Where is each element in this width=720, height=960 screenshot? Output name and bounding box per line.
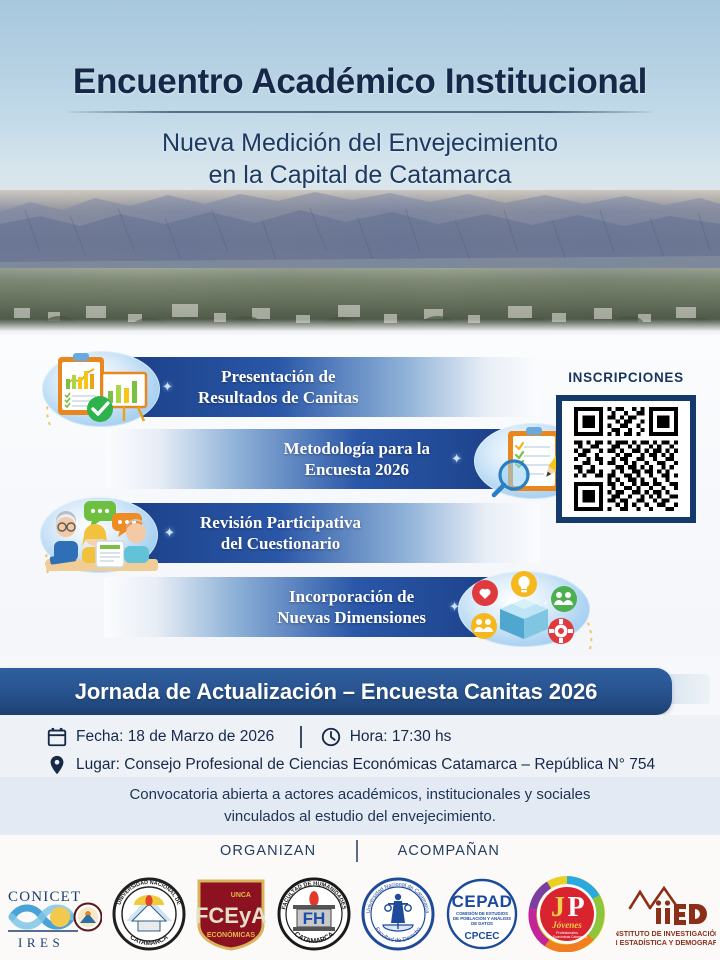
clock-icon — [320, 726, 342, 748]
event-banner-wrapper: Jornada de Actualización – Encuesta Cani… — [0, 668, 720, 715]
iied-instituto-investigacion-estadistica-demografia-logo: INSTITUTO DE INVESTIGACIÓN EN ESTADÍSTIC… — [616, 878, 716, 950]
acompanan-label: ACOMPAÑAN — [398, 843, 500, 859]
detail-row-place: Lugar: Consejo Profesional de Ciencias E… — [46, 752, 720, 777]
svg-text:UNCA: UNCA — [231, 892, 251, 899]
detail-row-date-time: Fecha: 18 de Marzo de 2026 Hora: 17:30 h… — [46, 724, 720, 749]
logo-strip: CONICET IRES — [0, 867, 720, 960]
svg-text:IRES: IRES — [18, 935, 64, 950]
topic-card-label: Incorporación de Nuevas Dimensiones — [277, 586, 426, 629]
unca-universidad-nacional-de-catamarca-logo: UNIVERSIDAD NACIONAL DE CATAMARCA — [112, 877, 186, 951]
svg-text:INSTITUTO DE INVESTIGACIÓN: INSTITUTO DE INVESTIGACIÓN — [616, 929, 716, 938]
facultad-de-humanidades-catamarca-logo: FH FACULTAD DE HUMANIDADES CATAMARCA — [277, 877, 351, 951]
qr-code-frame[interactable] — [556, 395, 696, 523]
topic-card-metodologia: ✦ Metodología para la Encuesta 2026 — [106, 429, 540, 489]
jovenes-profesionales-logo: J P Jóvenes Profesionales Cs. Económicas… — [528, 876, 606, 952]
event-banner-text: Jornada de Actualización – Encuesta Cani… — [75, 679, 598, 705]
title-divider — [68, 111, 652, 113]
hero-bottom-fade — [0, 319, 720, 335]
event-place: Lugar: Consejo Profesional de Ciencias E… — [76, 756, 655, 774]
poster-root: Encuentro Académico Institucional Nueva … — [0, 0, 720, 960]
subtitle-line-1: Nueva Medición del Envejecimiento — [0, 127, 720, 160]
credits-divider — [356, 840, 358, 862]
svg-text:EN ESTADÍSTICA Y DEMOGRAFÍA: EN ESTADÍSTICA Y DEMOGRAFÍA — [616, 938, 716, 947]
cepad-cpcec-logo: CEPAD COMISIÓN DE ESTUDIOS DE POBLACIÓN … — [445, 877, 519, 951]
convocatoria-line-2: vinculados al estudio del envejecimiento… — [224, 806, 496, 828]
hero-text-group: Encuentro Académico Institucional Nueva … — [0, 0, 720, 192]
sparkle-icon: ✦ — [451, 451, 462, 467]
clipboard-bar-chart-check-icon — [42, 351, 160, 427]
inscriptions-title: INSCRIPCIONES — [546, 370, 706, 385]
fceya-facultad-ciencias-economicas-logo: UNCA FCEyA ECONÓMICAS — [195, 877, 267, 951]
event-date: Fecha: 18 de Marzo de 2026 — [76, 728, 274, 746]
detail-divider — [300, 726, 302, 748]
svg-text:P: P — [568, 892, 585, 923]
hero-section: Encuentro Académico Institucional Nueva … — [0, 0, 720, 335]
convocatoria-line-1: Convocatoria abierta a actores académico… — [129, 784, 590, 806]
svg-text:CONICET: CONICET — [8, 889, 81, 905]
conicet-ires-logo: CONICET IRES — [4, 877, 102, 951]
convocatoria-block: Convocatoria abierta a actores académico… — [0, 777, 720, 835]
topic-card-label: Metodología para la Encuesta 2026 — [284, 438, 430, 481]
topic-card-label: Presentación de Resultados de Canitas — [198, 366, 359, 409]
facultad-de-derecho-unca-logo: Universidad Nacional de Catamarca Facult… — [361, 877, 435, 951]
event-time: Hora: 17:30 hs — [350, 728, 452, 746]
svg-text:CEPAD: CEPAD — [451, 892, 512, 911]
svg-text:Jóvenes: Jóvenes — [551, 920, 582, 930]
calendar-icon — [46, 726, 68, 748]
topic-card-revision: ✦ Revisión Participativa del Cuestionari… — [92, 503, 540, 563]
subtitle-line-2: en la Capital de Catamarca — [0, 159, 720, 192]
topic-card-incorporacion: ✦ Incorporación de Nuevas Dimensiones — [104, 577, 536, 637]
svg-text:FH: FH — [303, 909, 326, 928]
svg-text:ECONÓMICAS: ECONÓMICAS — [207, 930, 256, 939]
qr-code[interactable] — [568, 407, 684, 511]
sparkle-icon: ✦ — [162, 379, 173, 395]
event-details: Fecha: 18 de Marzo de 2026 Hora: 17:30 h… — [0, 715, 720, 777]
svg-text:Cs. Económicas Catamarca: Cs. Económicas Catamarca — [547, 935, 587, 939]
sparkle-icon: ✦ — [164, 525, 175, 541]
location-pin-icon — [46, 754, 68, 776]
credits-row: ORGANIZAN ACOMPAÑAN — [0, 835, 720, 867]
svg-text:J: J — [551, 892, 565, 923]
organizan-label: ORGANIZAN — [220, 843, 316, 859]
svg-text:CPCEC: CPCEC — [464, 931, 499, 942]
cube-network-dimensions-icon — [458, 571, 590, 647]
topic-card-label: Revisión Participativa del Cuestionario — [200, 512, 361, 555]
event-banner: Jornada de Actualización – Encuesta Cani… — [0, 668, 672, 715]
svg-text:FCEyA: FCEyA — [195, 903, 267, 928]
people-discussion-tablet-icon — [40, 497, 158, 573]
svg-text:DE DATOS: DE DATOS — [471, 921, 493, 926]
inscriptions-block: INSCRIPCIONES — [546, 370, 706, 523]
page-subtitle: Nueva Medición del Envejecimiento en la … — [0, 127, 720, 192]
topic-card-presentacion: ✦ Presentación de Resultados de Canitas — [90, 357, 540, 417]
page-title: Encuentro Académico Institucional — [0, 62, 720, 102]
